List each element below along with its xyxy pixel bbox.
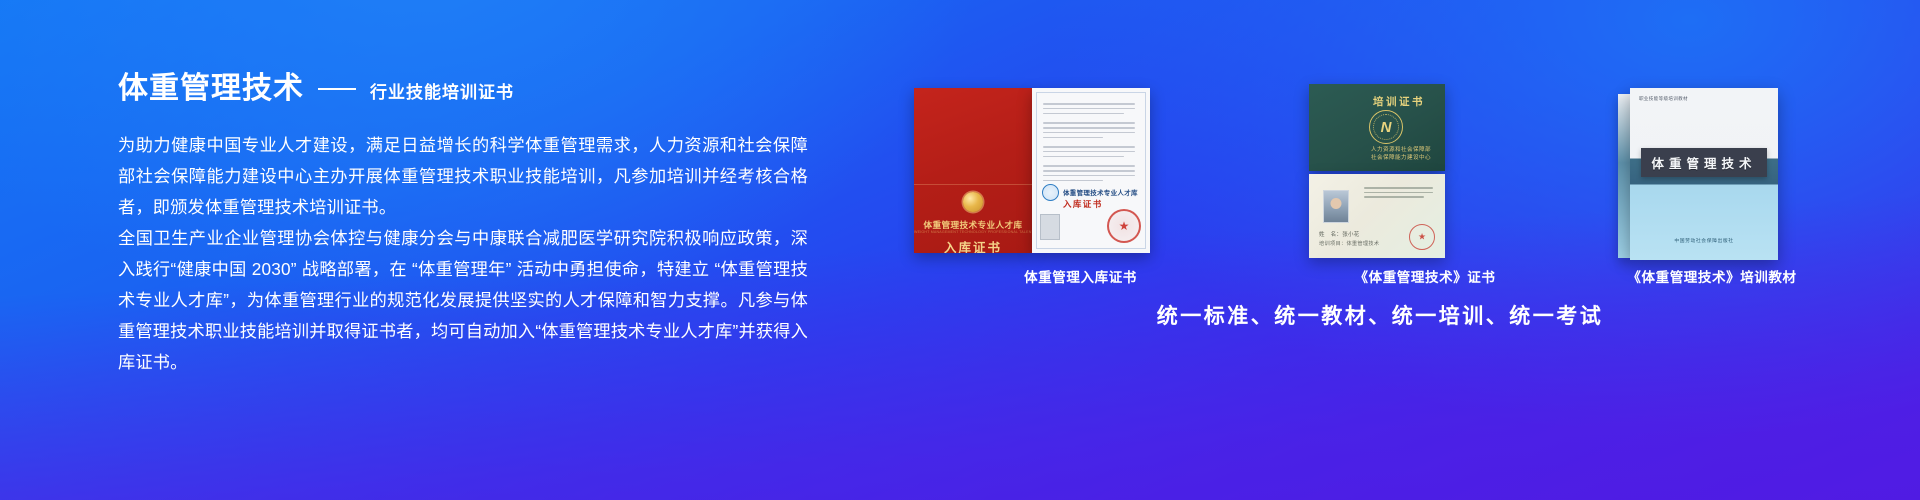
green-cover-org-line-1: 人力资源和社会保障部 xyxy=(1371,146,1431,154)
gallery-item-warehouse-certificate[interactable]: 体重管理技术专业人才库 WEIGHT MANAGEMENT TECHNOLOGY… xyxy=(908,80,1253,290)
headline-subtitle: 行业技能培训证书 xyxy=(370,78,514,103)
certificate-gallery: 体重管理技术专业人才库 WEIGHT MANAGEMENT TECHNOLOGY… xyxy=(900,80,1860,380)
inner-title: 入库证书 xyxy=(1063,198,1103,210)
copy-column: 体重管理技术 行业技能培训证书 为助力健康中国专业人才建设，满足日益增长的科学体… xyxy=(118,74,808,378)
green-certificate-cover: 培训证书 N 人力资源和社会保障部 社会保障能力建设中心 xyxy=(1309,84,1445,171)
national-seal-icon: N xyxy=(1369,110,1403,144)
blue-seal-icon xyxy=(1042,184,1059,201)
paragraph-block-1 xyxy=(1043,103,1139,114)
green-cover-org-line-2: 社会保障能力建设中心 xyxy=(1371,154,1431,162)
holder-project: 培训项目：体重管理技术 xyxy=(1319,240,1379,247)
body-paragraph-1: 为助力健康中国专业人才建设，满足日益增长的科学体重管理需求，人力资源和社会保障部… xyxy=(118,130,808,223)
green-cover-title: 培训证书 xyxy=(1373,94,1425,109)
body-copy: 为助力健康中国专业人才建设，满足日益增长的科学体重管理需求，人力资源和社会保障部… xyxy=(118,130,808,378)
cover-fold-line xyxy=(914,184,1032,185)
certificate-inner-page: 体重管理技术专业人才库 入库证书 xyxy=(1032,88,1150,253)
paragraph-block-2 xyxy=(1043,122,1139,138)
gallery-item-textbook[interactable]: 职业技能等级培训教材 体重管理技术 中国劳动社会保障出版社 《体重管理技术》培训… xyxy=(1572,80,1852,290)
headline-main: 体重管理技术 xyxy=(118,74,304,104)
gold-emblem-icon xyxy=(963,192,983,212)
cover-title: 入库证书 xyxy=(914,237,1032,253)
tagline: 统一标准、统一教材、统一培训、统一考试 xyxy=(900,300,1860,330)
page-title: 体重管理技术 行业技能培训证书 xyxy=(118,74,808,104)
book-top-label: 职业技能等级培训教材 xyxy=(1639,96,1688,102)
body-paragraph-2: 全国卫生产业企业管理协会体控与健康分会与中康联合减肥医学研究院积极响应政策，深入… xyxy=(118,223,808,378)
portrait-photo xyxy=(1323,190,1349,223)
green-cover-org: 人力资源和社会保障部 社会保障能力建设中心 xyxy=(1371,146,1431,162)
headline-divider-icon xyxy=(318,88,356,90)
id-red-stamp-icon xyxy=(1409,224,1435,250)
cover-org-name-en: WEIGHT MANAGEMENT TECHNOLOGY PROFESSIONA… xyxy=(914,230,1032,234)
gallery-caption: 体重管理入库证书 xyxy=(908,266,1253,286)
certificate-id-page: 姓 名：张小花 培训项目：体重管理技术 xyxy=(1309,174,1445,258)
book-title: 体重管理技术 xyxy=(1651,153,1756,172)
paragraph-block-3 xyxy=(1043,146,1139,157)
paragraph-block-4 xyxy=(1043,165,1139,181)
inner-org-name: 体重管理技术专业人才库 xyxy=(1063,187,1138,197)
gallery-caption: 《体重管理技术》证书 xyxy=(1275,266,1575,286)
book-title-band: 体重管理技术 xyxy=(1641,148,1767,177)
red-certificate-cover: 体重管理技术专业人才库 WEIGHT MANAGEMENT TECHNOLOGY… xyxy=(914,88,1032,253)
promo-banner: 体重管理技术 行业技能培训证书 为助力健康中国专业人才建设，满足日益增长的科学体… xyxy=(0,0,1920,500)
textbook-cover: 职业技能等级培训教材 体重管理技术 中国劳动社会保障出版社 xyxy=(1630,88,1778,260)
red-stamp-icon xyxy=(1107,209,1141,243)
holder-name: 姓 名：张小花 xyxy=(1319,230,1360,238)
photo-placeholder xyxy=(1040,214,1060,240)
gallery-item-training-certificate[interactable]: 培训证书 N 人力资源和社会保障部 社会保障能力建设中心 姓 名：张小花 培训项… xyxy=(1275,80,1575,290)
book-publisher: 中国劳动社会保障出版社 xyxy=(1630,237,1778,244)
id-text-lines xyxy=(1364,187,1436,201)
gallery-caption: 《体重管理技术》培训教材 xyxy=(1572,266,1852,286)
